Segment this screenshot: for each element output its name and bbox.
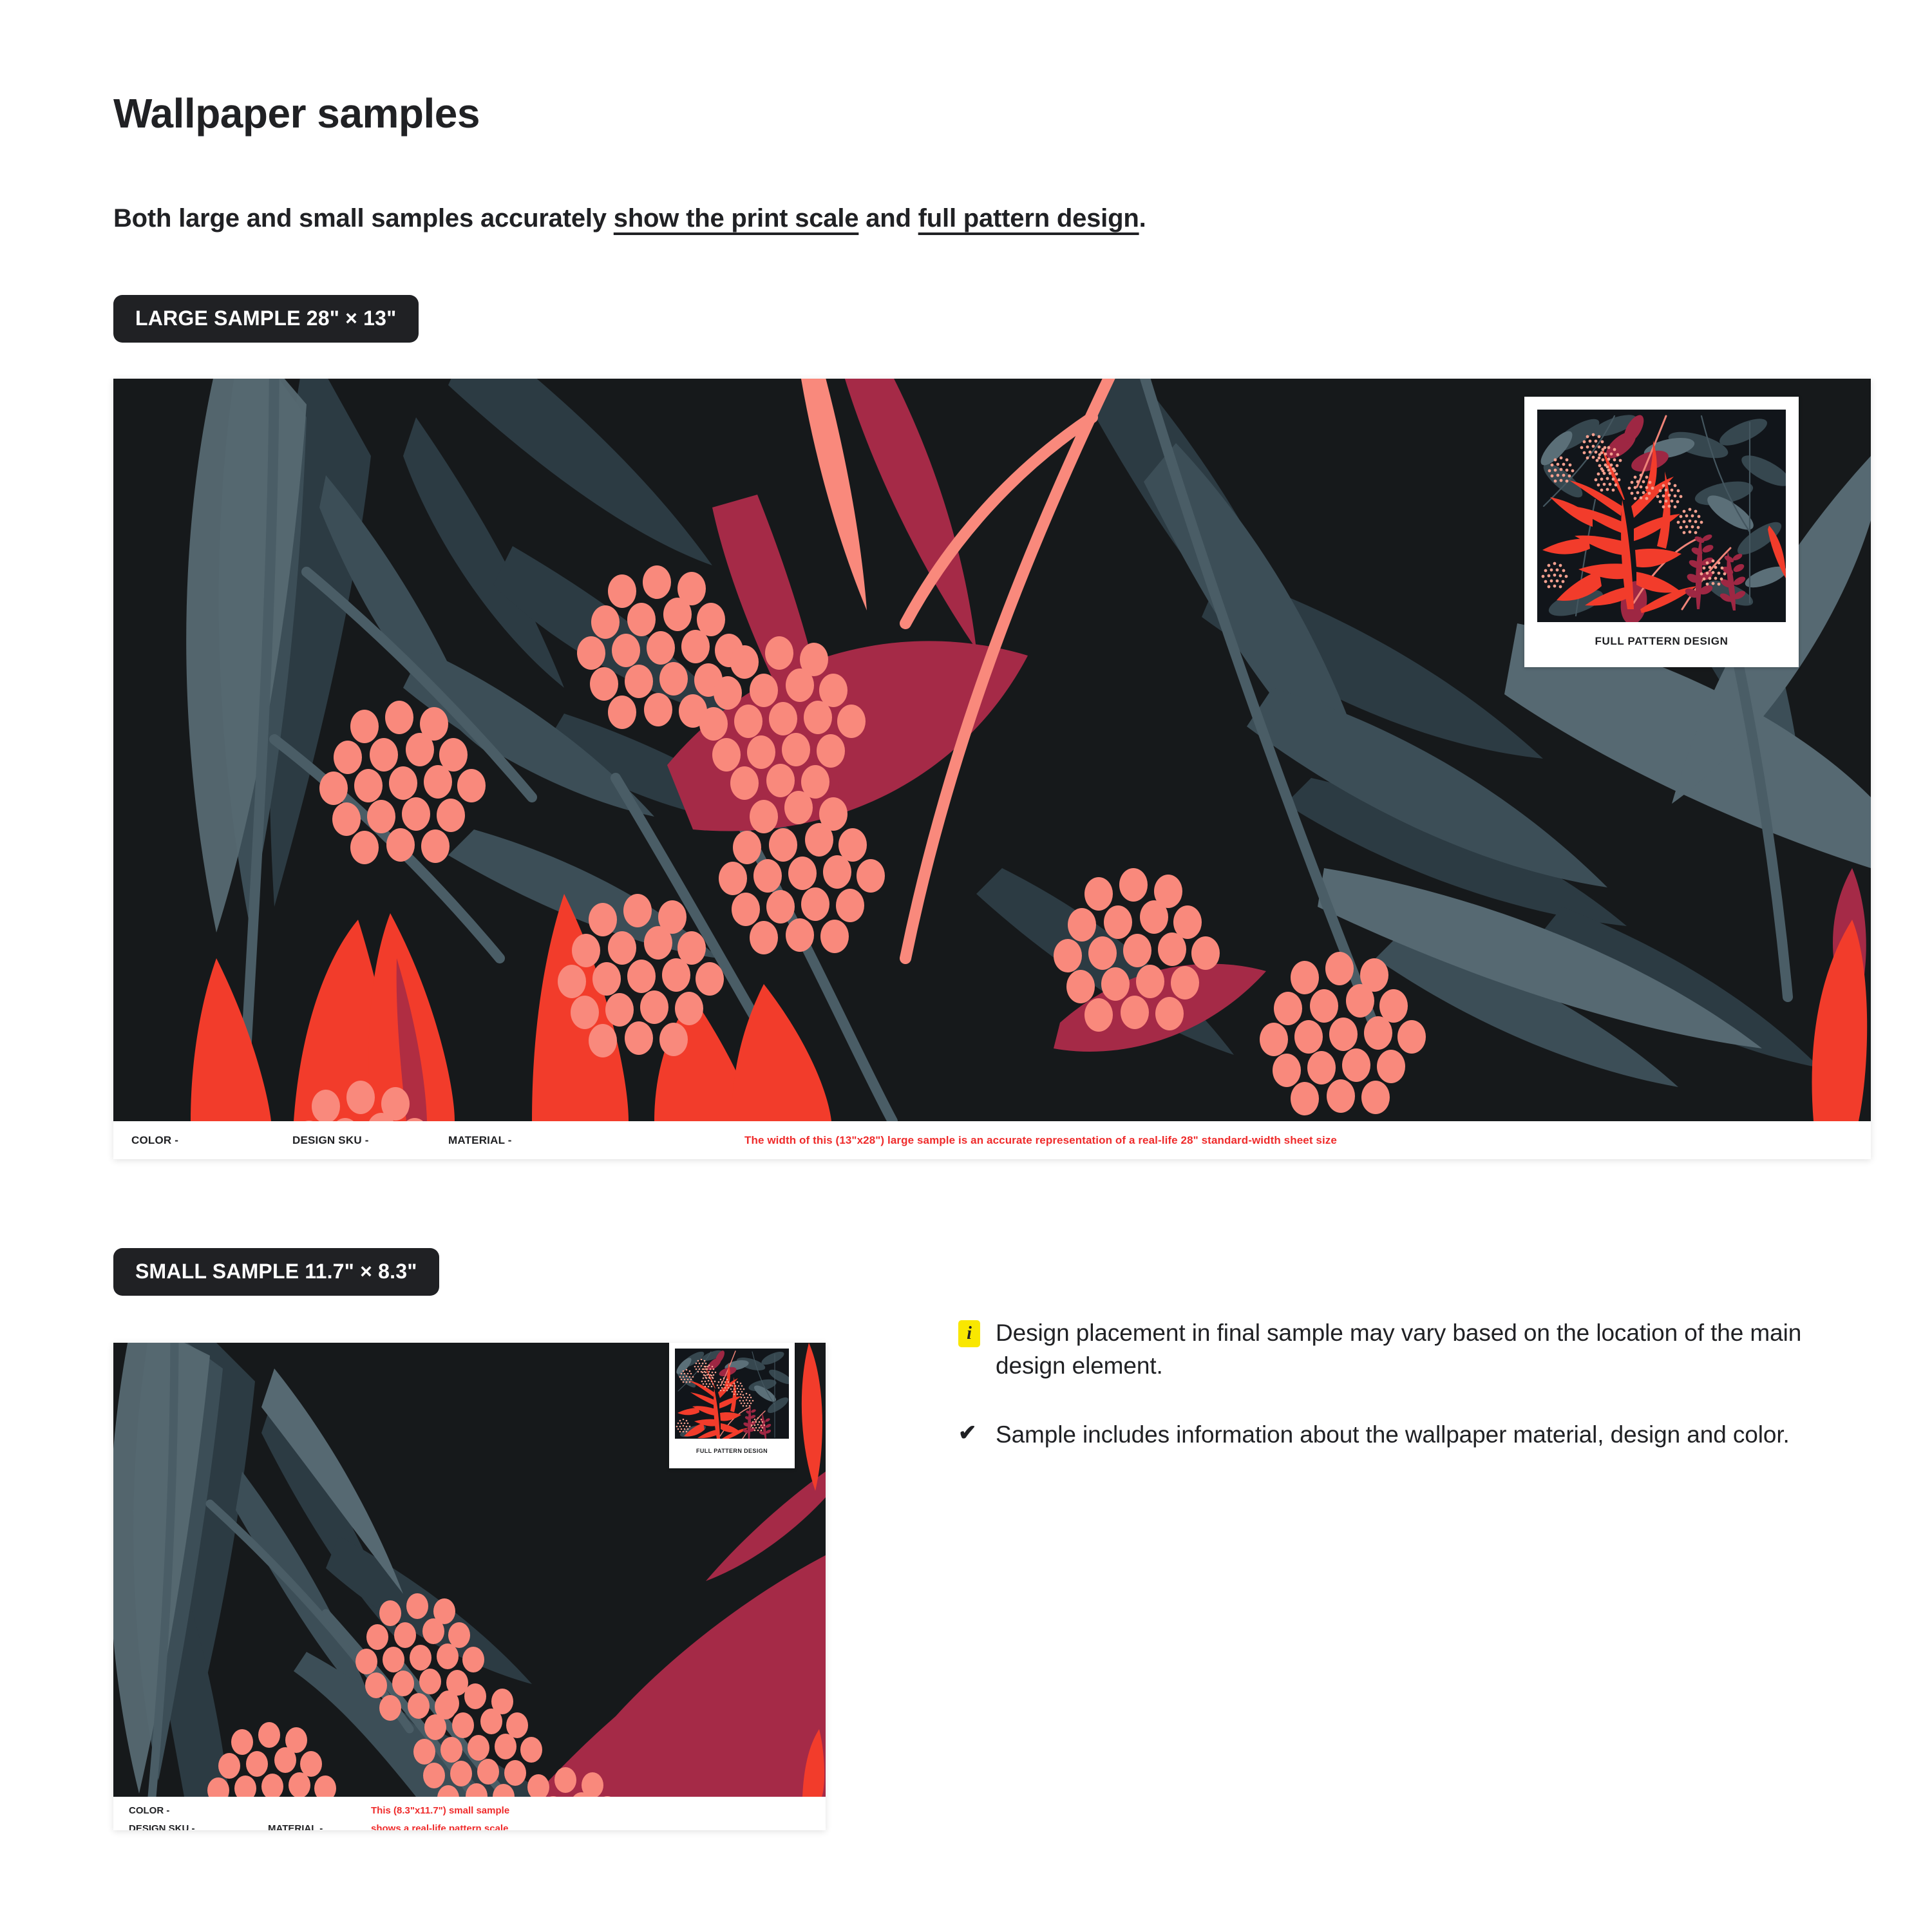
check-icon: ✔ bbox=[958, 1422, 977, 1444]
subtitle-part-3: and bbox=[858, 204, 918, 232]
small-scale-note-line1: This (8.3"x11.7") small sample bbox=[371, 1802, 509, 1820]
small-scale-note-line2: shows a real-life pattern scale bbox=[371, 1820, 509, 1830]
large-sample-info-bar: COLOR - DESIGN SKU - MATERIAL - The widt… bbox=[113, 1121, 1871, 1159]
full-pattern-thumbnail-large bbox=[1537, 410, 1786, 622]
feature-text-placement: Design placement in final sample may var… bbox=[996, 1316, 1847, 1382]
large-sample-preview[interactable]: FULL PATTERN DESIGN COLOR - DESIGN SKU -… bbox=[113, 379, 1871, 1159]
small-material-label: MATERIAL - bbox=[268, 1820, 323, 1830]
page-title: Wallpaper samples bbox=[113, 90, 480, 138]
feature-text-information: Sample includes information about the wa… bbox=[996, 1418, 1790, 1451]
large-sample-scale-note: The width of this (13"x28") large sample… bbox=[744, 1134, 1337, 1147]
full-pattern-design-card-small: FULL PATTERN DESIGN bbox=[669, 1343, 795, 1468]
large-sku-label: DESIGN SKU - bbox=[292, 1134, 369, 1147]
feature-icon-wrap-2: ✔ bbox=[958, 1418, 996, 1444]
large-sample-badge: LARGE SAMPLE 28" × 13" bbox=[113, 295, 419, 343]
subtitle-part-4-underlined: full pattern design bbox=[918, 204, 1139, 232]
feature-item-placement: i Design placement in final sample may v… bbox=[958, 1316, 1847, 1382]
full-pattern-caption-large: FULL PATTERN DESIGN bbox=[1537, 622, 1786, 661]
small-meta-col-2: MATERIAL - bbox=[268, 1802, 323, 1830]
large-material-label: MATERIAL - bbox=[448, 1134, 512, 1147]
small-meta-col-1: COLOR - DESIGN SKU - bbox=[129, 1802, 195, 1830]
small-sample-preview[interactable]: FULL PATTERN DESIGN COLOR - DESIGN SKU -… bbox=[113, 1343, 826, 1830]
subtitle-part-1: Both large and small samples accurately bbox=[113, 204, 614, 232]
small-spacer-line bbox=[268, 1802, 323, 1820]
feature-list: i Design placement in final sample may v… bbox=[958, 1316, 1847, 1487]
feature-icon-wrap-1: i bbox=[958, 1316, 996, 1347]
small-color-label: COLOR - bbox=[129, 1802, 195, 1820]
subtitle-part-5: . bbox=[1139, 204, 1146, 232]
feature-item-information: ✔ Sample includes information about the … bbox=[958, 1418, 1847, 1451]
full-pattern-design-card-large: FULL PATTERN DESIGN bbox=[1524, 397, 1799, 667]
large-color-label: COLOR - bbox=[131, 1134, 178, 1147]
small-sample-badge: SMALL SAMPLE 11.7" × 8.3" bbox=[113, 1248, 439, 1296]
small-sku-label: DESIGN SKU - bbox=[129, 1820, 195, 1830]
small-sample-info-bar: COLOR - DESIGN SKU - MATERIAL - This (8.… bbox=[113, 1797, 826, 1830]
wallpaper-samples-page: Wallpaper samples Both large and small s… bbox=[0, 0, 1932, 1932]
full-pattern-caption-small: FULL PATTERN DESIGN bbox=[675, 1439, 789, 1463]
small-meta-col-3: This (8.3"x11.7") small sample shows a r… bbox=[371, 1802, 509, 1830]
info-icon: i bbox=[958, 1320, 980, 1347]
full-pattern-thumbnail-small bbox=[675, 1349, 789, 1439]
page-subtitle: Both large and small samples accurately … bbox=[113, 201, 1146, 236]
subtitle-part-2-underlined: show the print scale bbox=[614, 204, 859, 232]
